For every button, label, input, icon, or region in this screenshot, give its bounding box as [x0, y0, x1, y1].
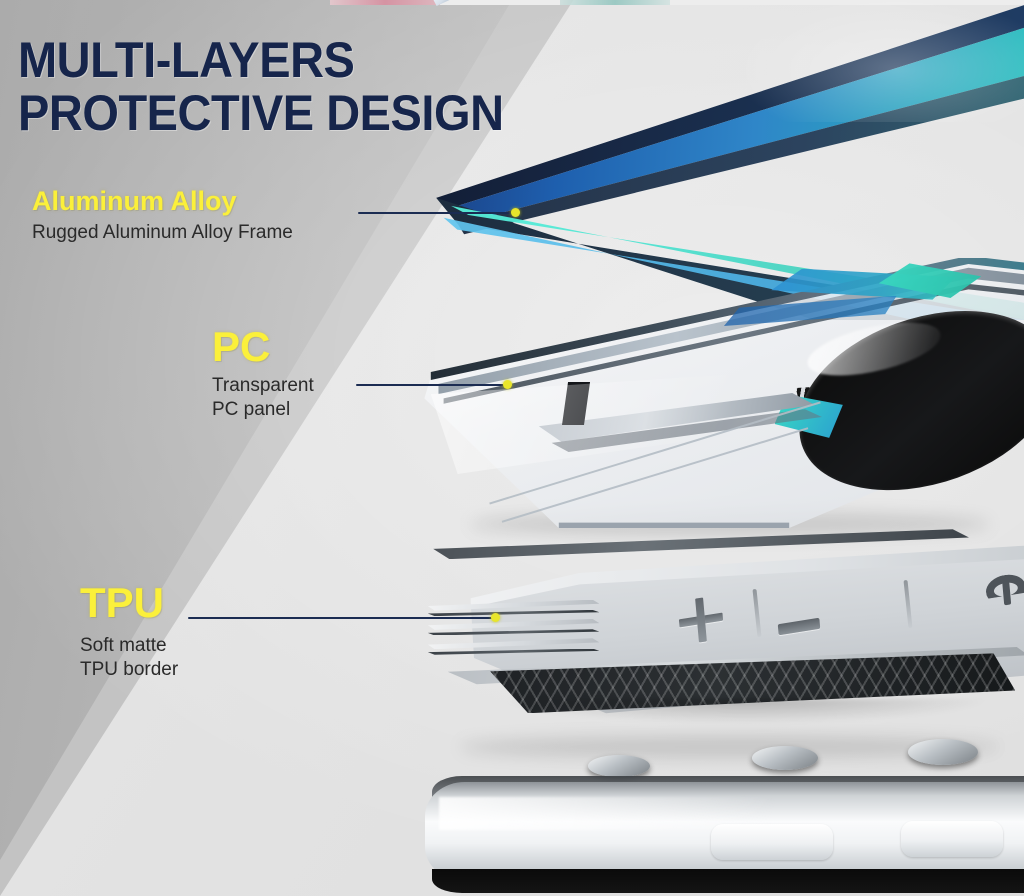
callout-aluminum-description: Rugged Aluminum Alloy Frame	[32, 221, 293, 245]
page-title: MULTI-LAYERS PROTECTIVE DESIGN	[18, 34, 620, 139]
tpu-fin-3	[428, 619, 600, 630]
phone-power-button[interactable]	[901, 821, 1003, 857]
callout-pc-description-line-1: Transparent	[212, 374, 314, 398]
alloy-corner-tip	[430, 0, 452, 6]
pc-panel-layer	[418, 258, 1024, 528]
power-icon-stem	[1002, 581, 1011, 604]
leader-line-tpu	[188, 616, 496, 620]
alloy-specular-glow	[666, 0, 1024, 122]
volume-up-button[interactable]	[677, 595, 724, 646]
callout-aluminum-heading: Aluminum Alloy	[32, 188, 293, 215]
callout-aluminum-alloy: Aluminum Alloy Rugged Aluminum Alloy Fra…	[32, 188, 293, 245]
camera-lens-2	[752, 746, 818, 770]
tpu-fin-stack	[428, 598, 600, 667]
callout-pc: PC Transparent PC panel	[212, 326, 314, 422]
callout-tpu-heading: TPU	[80, 582, 178, 624]
infographic-canvas: MULTI-LAYERS PROTECTIVE DESIGN Aluminum …	[0, 0, 1024, 896]
phone-body-layer	[398, 752, 1024, 896]
leader-line-tpu-stroke	[188, 617, 496, 619]
phone-gloss-highlight	[439, 797, 915, 830]
leader-dot-aluminum	[511, 208, 520, 217]
callout-tpu-description-line-1: Soft matte	[80, 634, 178, 658]
tpu-fin-6-shadow	[428, 649, 600, 655]
camera-lens-3	[908, 739, 978, 765]
leader-line-pc-stroke	[356, 384, 508, 386]
swatch-blank-left	[0, 0, 330, 5]
callout-tpu-description-line-2: TPU border	[80, 658, 178, 682]
leader-line-pc	[356, 383, 508, 387]
tpu-fin-1	[428, 600, 600, 611]
page-title-line-1: MULTI-LAYERS	[18, 34, 620, 86]
tpu-cast-shadow	[474, 699, 1015, 731]
camera-lens-1	[588, 755, 650, 777]
callout-pc-description-line-2: PC panel	[212, 398, 314, 422]
swatch-pink	[330, 0, 440, 5]
power-button[interactable]	[984, 568, 1024, 614]
tpu-fin-4-shadow	[428, 629, 600, 635]
leader-line-aluminum-stroke	[358, 212, 516, 214]
leader-dot-pc	[503, 380, 512, 389]
phone-screen-edge	[432, 869, 1024, 893]
leader-dot-tpu	[491, 613, 500, 622]
callout-tpu: TPU Soft matte TPU border	[80, 582, 178, 682]
callout-pc-heading: PC	[212, 326, 314, 368]
leader-line-aluminum	[358, 211, 516, 215]
plus-icon-vertical	[694, 598, 707, 643]
page-title-line-2: PROTECTIVE DESIGN	[18, 87, 620, 139]
tpu-fin-5	[428, 638, 600, 649]
tpu-border-layer	[408, 520, 1024, 750]
